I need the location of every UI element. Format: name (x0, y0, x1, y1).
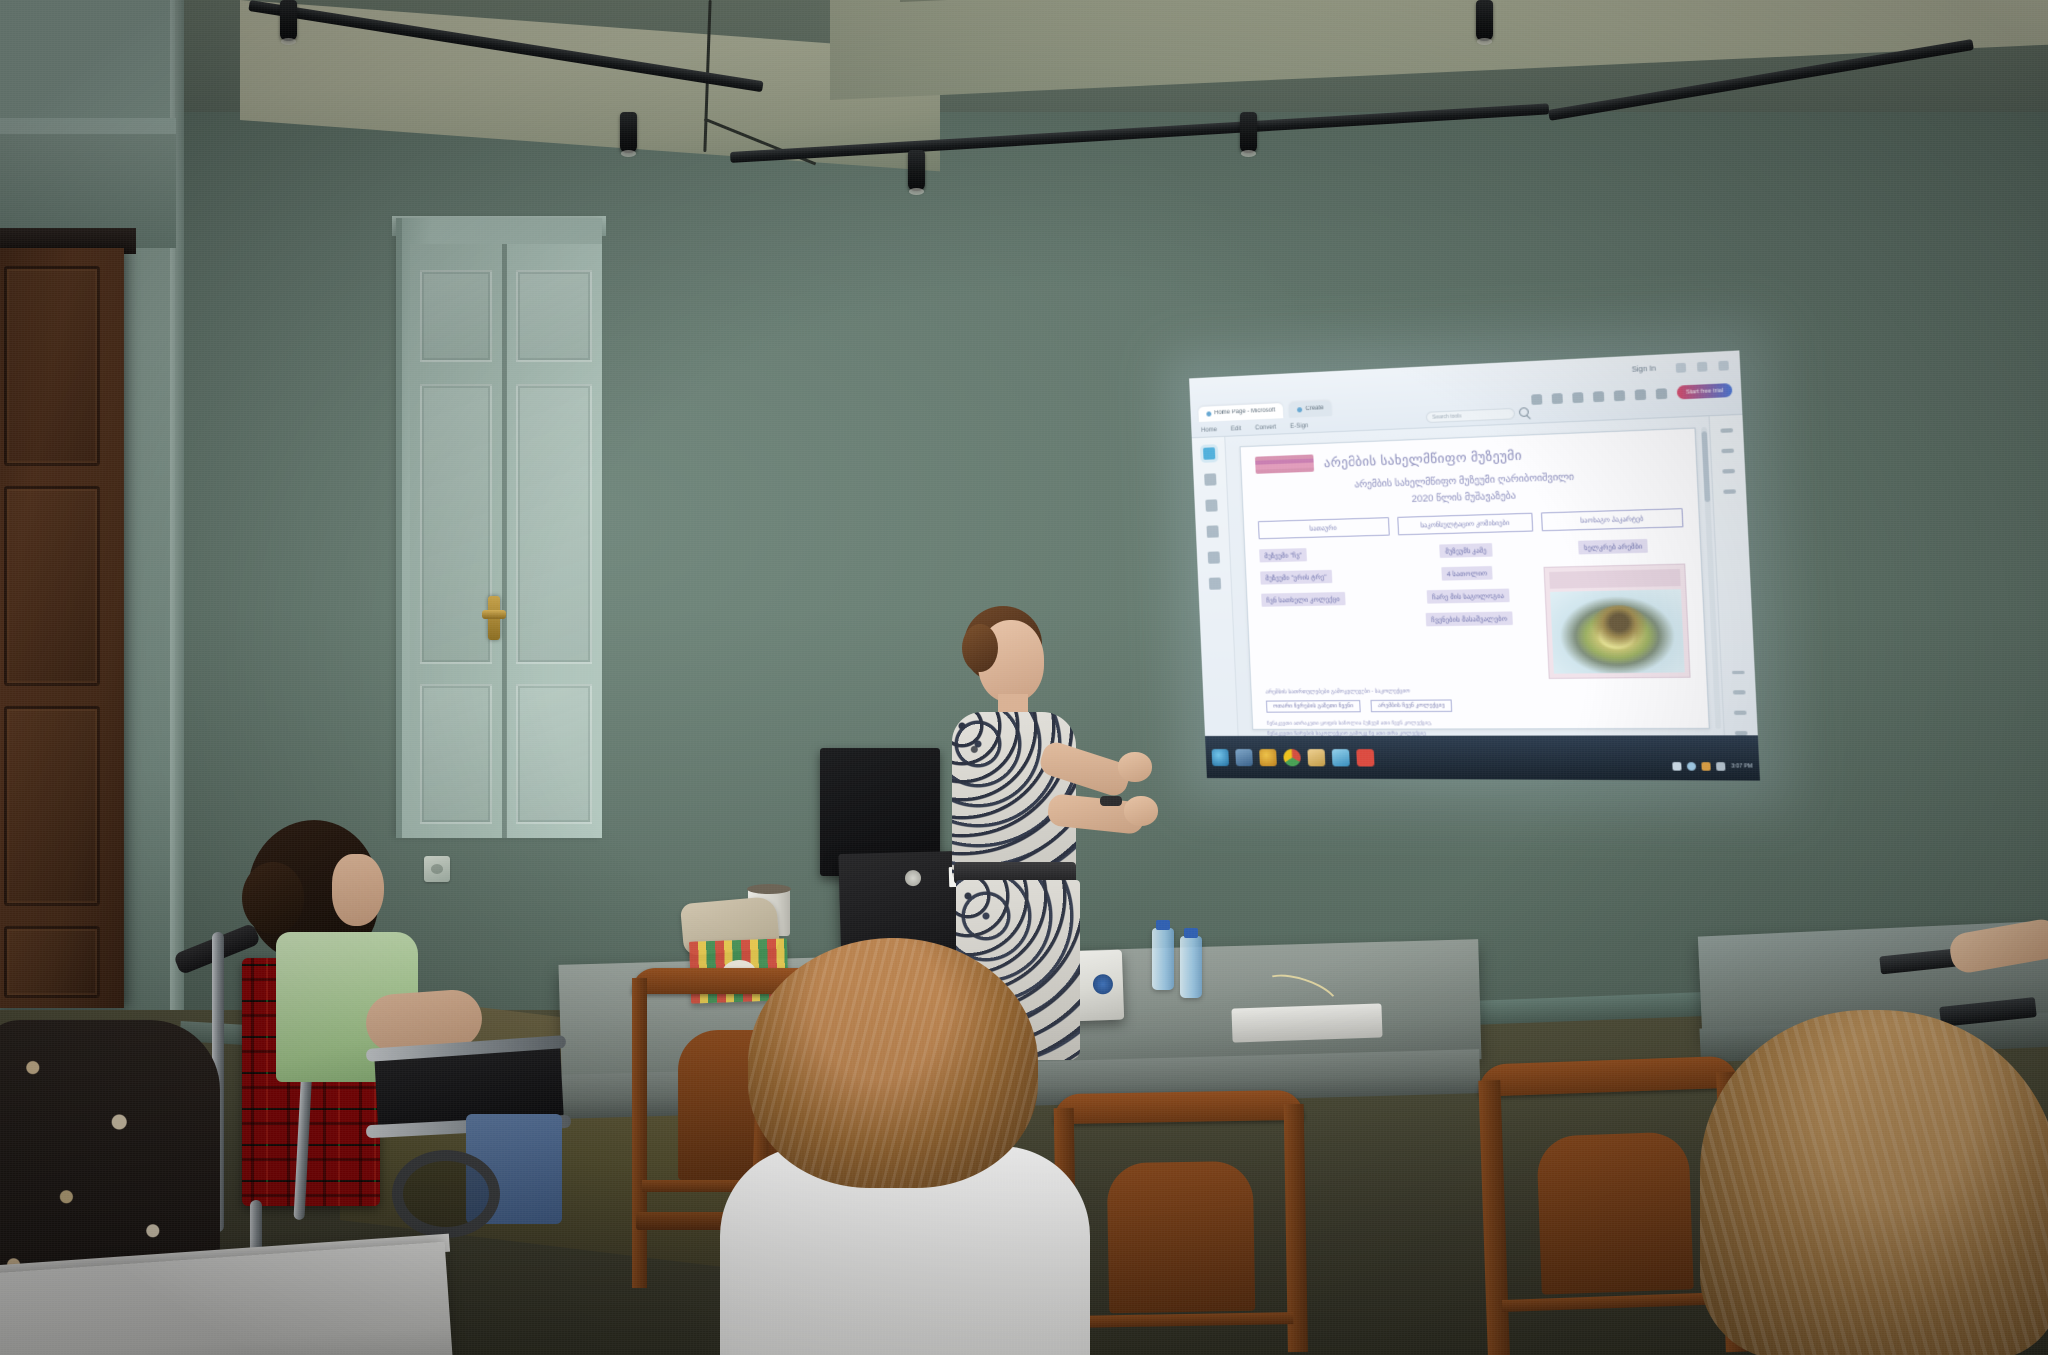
protect-icon[interactable] (1734, 711, 1747, 715)
export-icon[interactable] (1720, 428, 1733, 433)
browser-opera-icon[interactable] (1259, 749, 1277, 766)
presenter-watch (1100, 796, 1122, 806)
slide-thumbnail-card (1544, 564, 1691, 679)
document-viewport[interactable]: არემბის სახელმწიფო მუზეუმი არემბის სახელ… (1225, 416, 1724, 736)
file-explorer-icon[interactable] (1235, 749, 1253, 766)
slide-link[interactable]: 4 სათოლიო (1441, 566, 1493, 581)
tab-favicon-icon (1206, 411, 1211, 416)
chair-rail (1071, 1312, 1293, 1328)
search-tool-icon[interactable] (1206, 525, 1218, 537)
windows-taskbar: 3:07 PM (1205, 735, 1760, 780)
wooden-chair[interactable] (1053, 1090, 1308, 1355)
spotlight-fixture (1476, 0, 1493, 41)
scrollbar-thumb[interactable] (1701, 431, 1710, 502)
door-panel (516, 684, 592, 824)
slide-columns: მუზეუმი "ჩვ" მუზეუმი "ერის ტრე" ჩვნ სათხ… (1259, 538, 1690, 681)
select-tool-icon[interactable] (1203, 447, 1215, 459)
wardrobe-panel (4, 266, 100, 466)
slide-link[interactable]: ჩვნ სათხელი კოლექცი (1261, 592, 1345, 607)
zoom-tool-icon[interactable] (1204, 473, 1216, 485)
spotlight-fixture (1240, 112, 1257, 153)
door-panel (420, 270, 492, 362)
language-icon[interactable] (1716, 762, 1725, 771)
tab-favicon-icon (1297, 407, 1302, 412)
white-device-on-table (1231, 1003, 1382, 1042)
share-icon[interactable] (1552, 393, 1563, 404)
comment-panel-icon[interactable] (1721, 448, 1734, 453)
door-panel (516, 384, 592, 664)
water-bottle (1180, 936, 1202, 998)
fill-sign-icon[interactable] (1722, 469, 1735, 474)
slide-title: არემბის სახელმწიფო მუზეუმი (1323, 447, 1522, 470)
slide-link[interactable]: მუზეუმი "ჩვ" (1259, 548, 1307, 562)
chair-rail (1502, 1292, 1730, 1312)
print-icon[interactable] (1614, 390, 1625, 401)
slide-page: არემბის სახელმწიფო მუზეუმი არემბის სახელ… (1240, 428, 1710, 730)
taskbar-clock: 3:07 PM (1731, 763, 1752, 770)
menu-item-esign[interactable]: E-Sign (1290, 423, 1308, 430)
slide-pill-link[interactable]: ოთარი ჩვრების გაზეთი ჩვენი (1266, 700, 1361, 713)
thumbnail-header (1550, 569, 1681, 589)
spotlight-fixture (908, 150, 925, 191)
door-mullion (502, 244, 507, 838)
door-frame[interactable] (396, 218, 602, 838)
presenter-hair-bun (962, 624, 998, 672)
acrobat-icon[interactable] (1356, 749, 1374, 766)
slide-column-1: მუზეუმი "ჩვ" მუზეუმი "ერის ტრე" ჩვნ სათხ… (1259, 546, 1396, 682)
comment-icon[interactable] (1531, 394, 1542, 405)
start-trial-button[interactable]: Start free trial (1677, 383, 1733, 399)
slide-pill-link[interactable]: არემბის ჩვენ კოლექციე (1371, 700, 1453, 713)
highlight-tool-icon[interactable] (1205, 499, 1217, 511)
right-attendee-hair (1700, 1010, 2048, 1355)
menu-item-home[interactable]: Home (1201, 427, 1217, 434)
attendee-hair-bun (242, 862, 304, 934)
header-box-0[interactable]: სათაური (1258, 517, 1390, 539)
door-panel (420, 684, 492, 824)
door-panel (420, 384, 492, 664)
network-icon[interactable] (1673, 762, 1682, 771)
sign-in-button[interactable]: Sign In (1632, 365, 1656, 374)
slide-note: არემბის სათრთულებები გამოკვლევები - საკო… (1265, 687, 1691, 696)
download-icon[interactable] (1593, 391, 1604, 402)
browser-tab-0[interactable]: Home Page - Microsoft (1198, 403, 1283, 422)
slide-column-2: მუზეუმს კამე 4 სათოლიო ჩარე მის საგოლოგი… (1398, 542, 1540, 680)
stamp-tool-icon[interactable] (1207, 551, 1219, 563)
wardrobe-panel (4, 706, 100, 906)
folder-icon[interactable] (1307, 749, 1325, 766)
front-attendee-hair (748, 938, 1038, 1188)
slide-link[interactable]: ჩვენების მასაშვალებო (1426, 612, 1513, 627)
header-box-1[interactable]: საკონსულტაციო კომისიები (1397, 513, 1534, 536)
thumbnail-illustration (1550, 590, 1684, 674)
presenter-hand-right (1118, 752, 1152, 782)
paper-cup-rim (747, 884, 791, 894)
spotlight-fixture (280, 0, 297, 41)
teams-icon[interactable] (1332, 749, 1350, 766)
windows-start-icon[interactable] (1212, 749, 1230, 766)
spotlight-fixture (620, 112, 637, 153)
right-attendee (1700, 1010, 2048, 1355)
attendee-face (332, 854, 384, 926)
slide-pill-row: ოთარი ჩვრების გაზეთი ჩვენი არემბის ჩვენ … (1266, 698, 1692, 713)
browser-chrome-icon[interactable] (1283, 749, 1301, 766)
door-handle-icon[interactable] (488, 596, 500, 640)
wheelchair-wheel (392, 1150, 500, 1238)
projection-screen: Sign In Home Page - Microsoft Create Hom… (1189, 350, 1760, 780)
door-leaf-right[interactable] (506, 244, 602, 838)
presenter-hand-left (1124, 796, 1158, 826)
slide-link[interactable]: მუზეუმს კამე (1440, 543, 1493, 558)
wardrobe-panel (4, 486, 100, 686)
chair-crest-rail (1053, 1090, 1303, 1124)
slide-column-3: ხელკრებ არემბი (1543, 538, 1691, 679)
wardrobe (0, 248, 124, 1008)
tab-title: Home Page - Microsoft (1214, 407, 1275, 416)
wardrobe-panel (4, 926, 100, 998)
menu-item-edit[interactable]: Edit (1231, 426, 1242, 432)
wall-alcove-lip (0, 118, 176, 134)
pen-icon[interactable] (1635, 389, 1647, 400)
close-icon[interactable] (1718, 360, 1729, 370)
door-panel (516, 270, 592, 362)
battery-icon[interactable] (1702, 762, 1711, 771)
room-photo-scene: Sign In Home Page - Microsoft Create Hom… (0, 0, 2048, 1355)
door-leaf-left[interactable] (410, 244, 502, 838)
bottle-cap (1184, 928, 1198, 938)
slide-link[interactable]: ხელკრებ არემბი (1578, 539, 1648, 555)
slide-header-row: სათაური საკონსულტაციო კომისიები საოსაგო … (1258, 508, 1684, 539)
system-tray: 3:07 PM (1673, 762, 1753, 771)
text-tool-icon[interactable] (1208, 577, 1220, 589)
grid-icon[interactable] (1656, 388, 1668, 399)
chair-splat (1536, 1131, 1693, 1294)
museum-logo (1255, 454, 1314, 473)
front-attendee (740, 938, 1060, 1355)
rotate-icon[interactable] (1732, 670, 1745, 674)
tab-title: Create (1305, 405, 1324, 412)
compress-icon[interactable] (1733, 691, 1746, 695)
search-icon[interactable] (1519, 407, 1529, 417)
cloud-icon[interactable] (1572, 392, 1583, 403)
maximize-icon[interactable] (1697, 361, 1708, 371)
browser-tab-1[interactable]: Create (1289, 400, 1332, 417)
slide-link[interactable]: ჩარე მის საგოლოგია (1427, 589, 1510, 604)
slide-link[interactable]: მუზეუმი "ერის ტრე" (1260, 570, 1332, 585)
chair-splat (1107, 1161, 1256, 1314)
header-box-2[interactable]: საოსაგო პაკარტებ (1541, 508, 1683, 531)
organize-pages-icon[interactable] (1723, 489, 1736, 494)
menu-item-convert[interactable]: Convert (1255, 425, 1276, 432)
slide-footer-line: ჩვნაკვეთი ათრაკეთი ყოფის საჩოლია მუზეუმ … (1267, 719, 1693, 729)
volume-icon[interactable] (1687, 762, 1696, 771)
minimize-icon[interactable] (1676, 362, 1687, 372)
